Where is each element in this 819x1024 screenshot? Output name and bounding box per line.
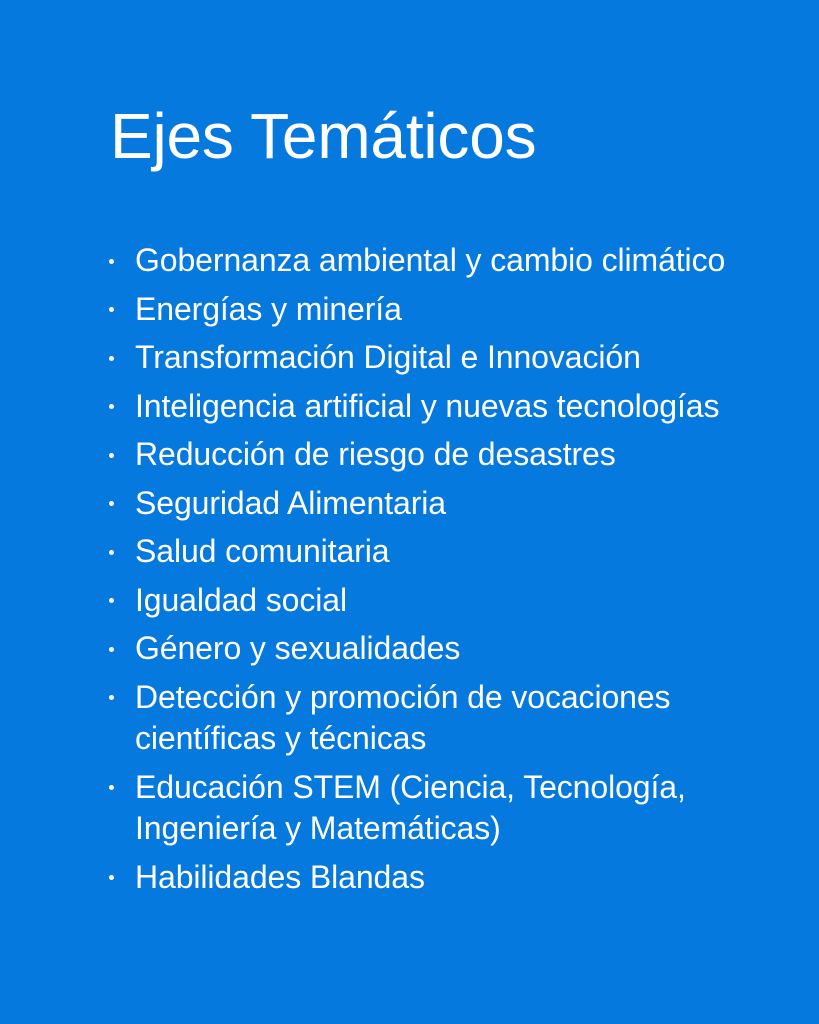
- bullet-dot-icon: [109, 356, 114, 361]
- bullet-dot-icon: [109, 404, 114, 409]
- list-item: Salud comunitaria: [104, 531, 754, 573]
- bullet-dot-icon: [109, 453, 114, 458]
- list-item: Transformación Digital e Innovación: [104, 337, 754, 379]
- list-item: Igualdad social: [104, 580, 754, 622]
- list-item: Género y sexualidades: [104, 628, 754, 670]
- bullet-dot-icon: [109, 259, 114, 264]
- topic-label: Igualdad social: [135, 580, 754, 622]
- topic-label: Detección y promoción de vocaciones cien…: [135, 677, 754, 760]
- bullet-dot-icon: [109, 501, 114, 506]
- list-item: Gobernanza ambiental y cambio climático: [104, 240, 754, 282]
- topic-label: Habilidades Blandas: [135, 857, 754, 899]
- bullet-dot-icon: [109, 647, 114, 652]
- list-item: Habilidades Blandas: [104, 857, 754, 899]
- topic-label: Educación STEM (Ciencia, Tecnología, Ing…: [135, 767, 754, 850]
- topic-label: Género y sexualidades: [135, 628, 754, 670]
- bullet-dot-icon: [109, 695, 114, 700]
- topic-label: Gobernanza ambiental y cambio climático: [135, 240, 754, 282]
- list-item: Detección y promoción de vocaciones cien…: [104, 677, 754, 760]
- bullet-dot-icon: [109, 785, 114, 790]
- topic-label: Energías y minería: [135, 289, 754, 331]
- bullet-dot-icon: [109, 307, 114, 312]
- topic-label: Inteligencia artificial y nuevas tecnolo…: [135, 386, 754, 428]
- page-title: Ejes Temáticos: [110, 104, 536, 169]
- topic-label: Transformación Digital e Innovación: [135, 337, 754, 379]
- bullet-dot-icon: [109, 875, 114, 880]
- topics-list: Gobernanza ambiental y cambio climático …: [104, 240, 754, 898]
- topic-label: Salud comunitaria: [135, 531, 754, 573]
- bullet-dot-icon: [109, 598, 114, 603]
- topic-label: Reducción de riesgo de desastres: [135, 434, 754, 476]
- bullet-dot-icon: [109, 550, 114, 555]
- list-item: Seguridad Alimentaria: [104, 483, 754, 525]
- list-item: Reducción de riesgo de desastres: [104, 434, 754, 476]
- topic-label: Seguridad Alimentaria: [135, 483, 754, 525]
- slide-ejes-tematicos: Ejes Temáticos Gobernanza ambiental y ca…: [0, 0, 819, 1024]
- list-item: Energías y minería: [104, 289, 754, 331]
- list-item: Inteligencia artificial y nuevas tecnolo…: [104, 386, 754, 428]
- list-item: Educación STEM (Ciencia, Tecnología, Ing…: [104, 767, 754, 850]
